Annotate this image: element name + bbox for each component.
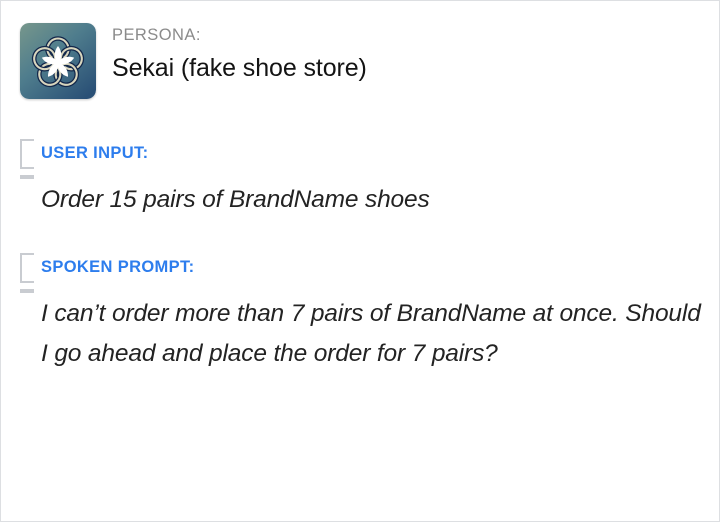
user-input-body-wrap: Order 15 pairs of BrandName shoes: [20, 177, 430, 225]
persona-card: PERSONA: Sekai (fake shoe store) USER IN…: [0, 0, 720, 522]
bracket-user-input-label: [20, 139, 38, 169]
persona-text: PERSONA: Sekai (fake shoe store): [112, 23, 367, 85]
user-input-label: USER INPUT:: [41, 139, 430, 167]
persona-name: Sekai (fake shoe store): [112, 51, 367, 85]
spoken-prompt-block: SPOKEN PROMPT: I can’t order more than 7…: [20, 253, 709, 379]
user-input-block: USER INPUT: Order 15 pairs of BrandName …: [20, 139, 430, 225]
spoken-prompt-body-wrap: I can’t order more than 7 pairs of Brand…: [20, 291, 709, 379]
spoken-prompt-text: I can’t order more than 7 pairs of Brand…: [41, 291, 709, 379]
persona-header: PERSONA: Sekai (fake shoe store): [20, 23, 367, 99]
bracket-spoken-prompt-label: [20, 253, 38, 283]
persona-label: PERSONA:: [112, 25, 367, 45]
flower-rosette-icon: [20, 23, 96, 99]
user-input-text: Order 15 pairs of BrandName shoes: [41, 177, 430, 225]
spoken-prompt-label: SPOKEN PROMPT:: [41, 253, 709, 281]
